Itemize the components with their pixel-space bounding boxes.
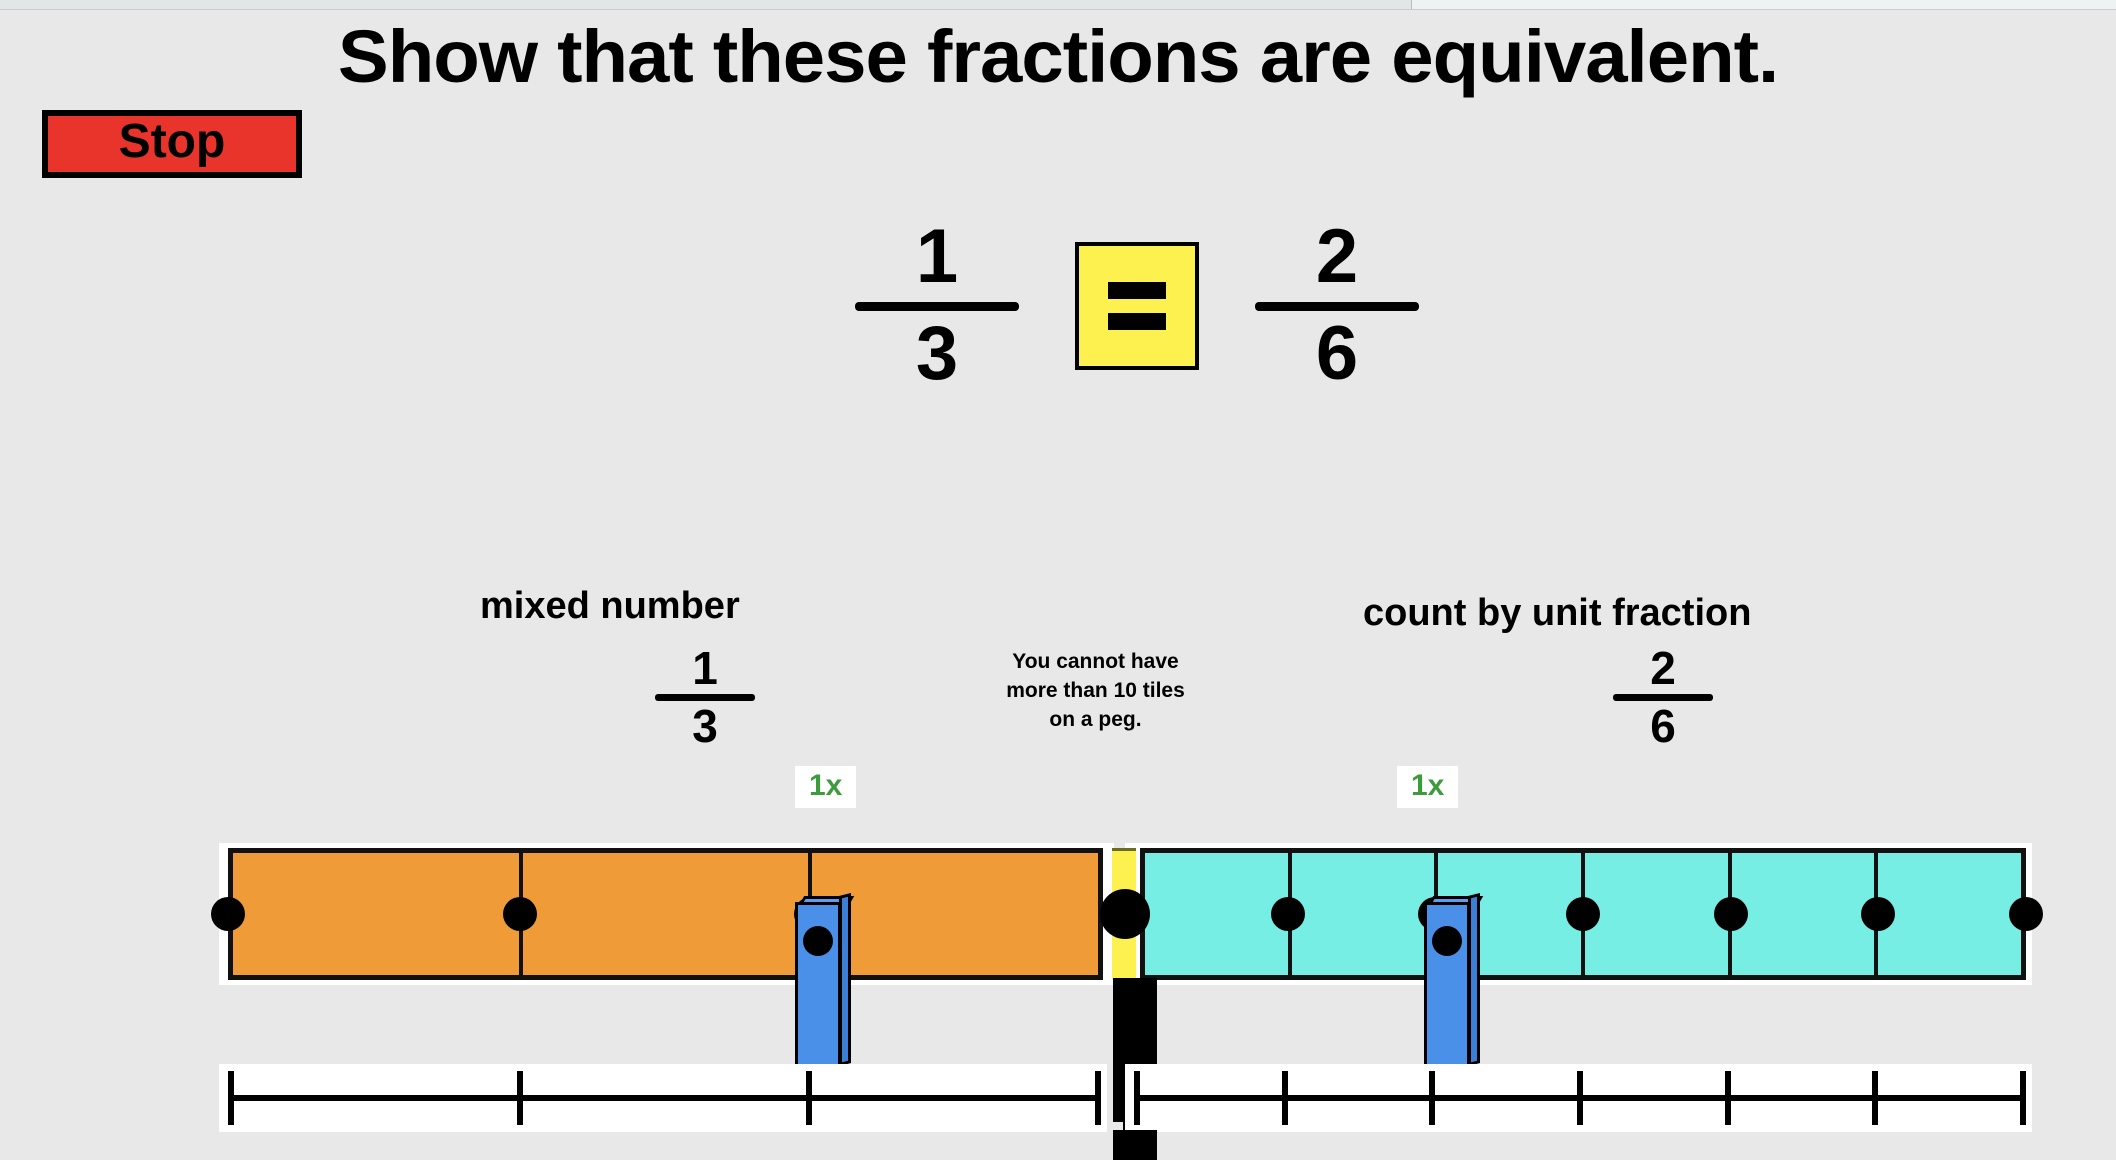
peg[interactable] [1271, 897, 1305, 931]
peg[interactable] [1100, 889, 1150, 939]
number-line-tick [1725, 1071, 1731, 1125]
left-number-line-axis [228, 1095, 1098, 1101]
number-line-tick [1872, 1071, 1878, 1125]
tile[interactable] [1732, 853, 1879, 975]
tile[interactable] [233, 853, 523, 975]
peg[interactable] [211, 897, 245, 931]
number-line-tick [1282, 1071, 1288, 1125]
number-line-tick [1134, 1071, 1140, 1125]
number-line-tick [517, 1071, 523, 1125]
peg[interactable] [1566, 897, 1600, 931]
tile[interactable] [1585, 853, 1732, 975]
left-tile-row[interactable] [228, 848, 1103, 980]
fraction-pegboard [0, 0, 2116, 1160]
peg[interactable] [503, 897, 537, 931]
bottom-post-stub [1113, 1130, 1157, 1160]
right-position-marker[interactable] [1424, 890, 1480, 1072]
peg[interactable] [1714, 897, 1748, 931]
number-line-tick [228, 1071, 234, 1125]
left-marker-peg-icon [803, 926, 833, 956]
right-marker-peg-icon [1432, 926, 1462, 956]
tile[interactable] [1292, 853, 1439, 975]
number-line-tick [1429, 1071, 1435, 1125]
left-position-marker[interactable] [795, 890, 851, 1072]
tile[interactable] [523, 853, 813, 975]
left-number-line[interactable] [219, 1064, 1107, 1132]
tile[interactable] [1145, 853, 1292, 975]
number-line-tick [1577, 1071, 1583, 1125]
number-line-tick [2020, 1071, 2026, 1125]
right-number-line[interactable] [1125, 1064, 2032, 1132]
tile[interactable] [812, 853, 1098, 975]
number-line-tick [806, 1071, 812, 1125]
peg[interactable] [2009, 897, 2043, 931]
tile[interactable] [1878, 853, 2021, 975]
number-line-tick [1095, 1071, 1101, 1125]
